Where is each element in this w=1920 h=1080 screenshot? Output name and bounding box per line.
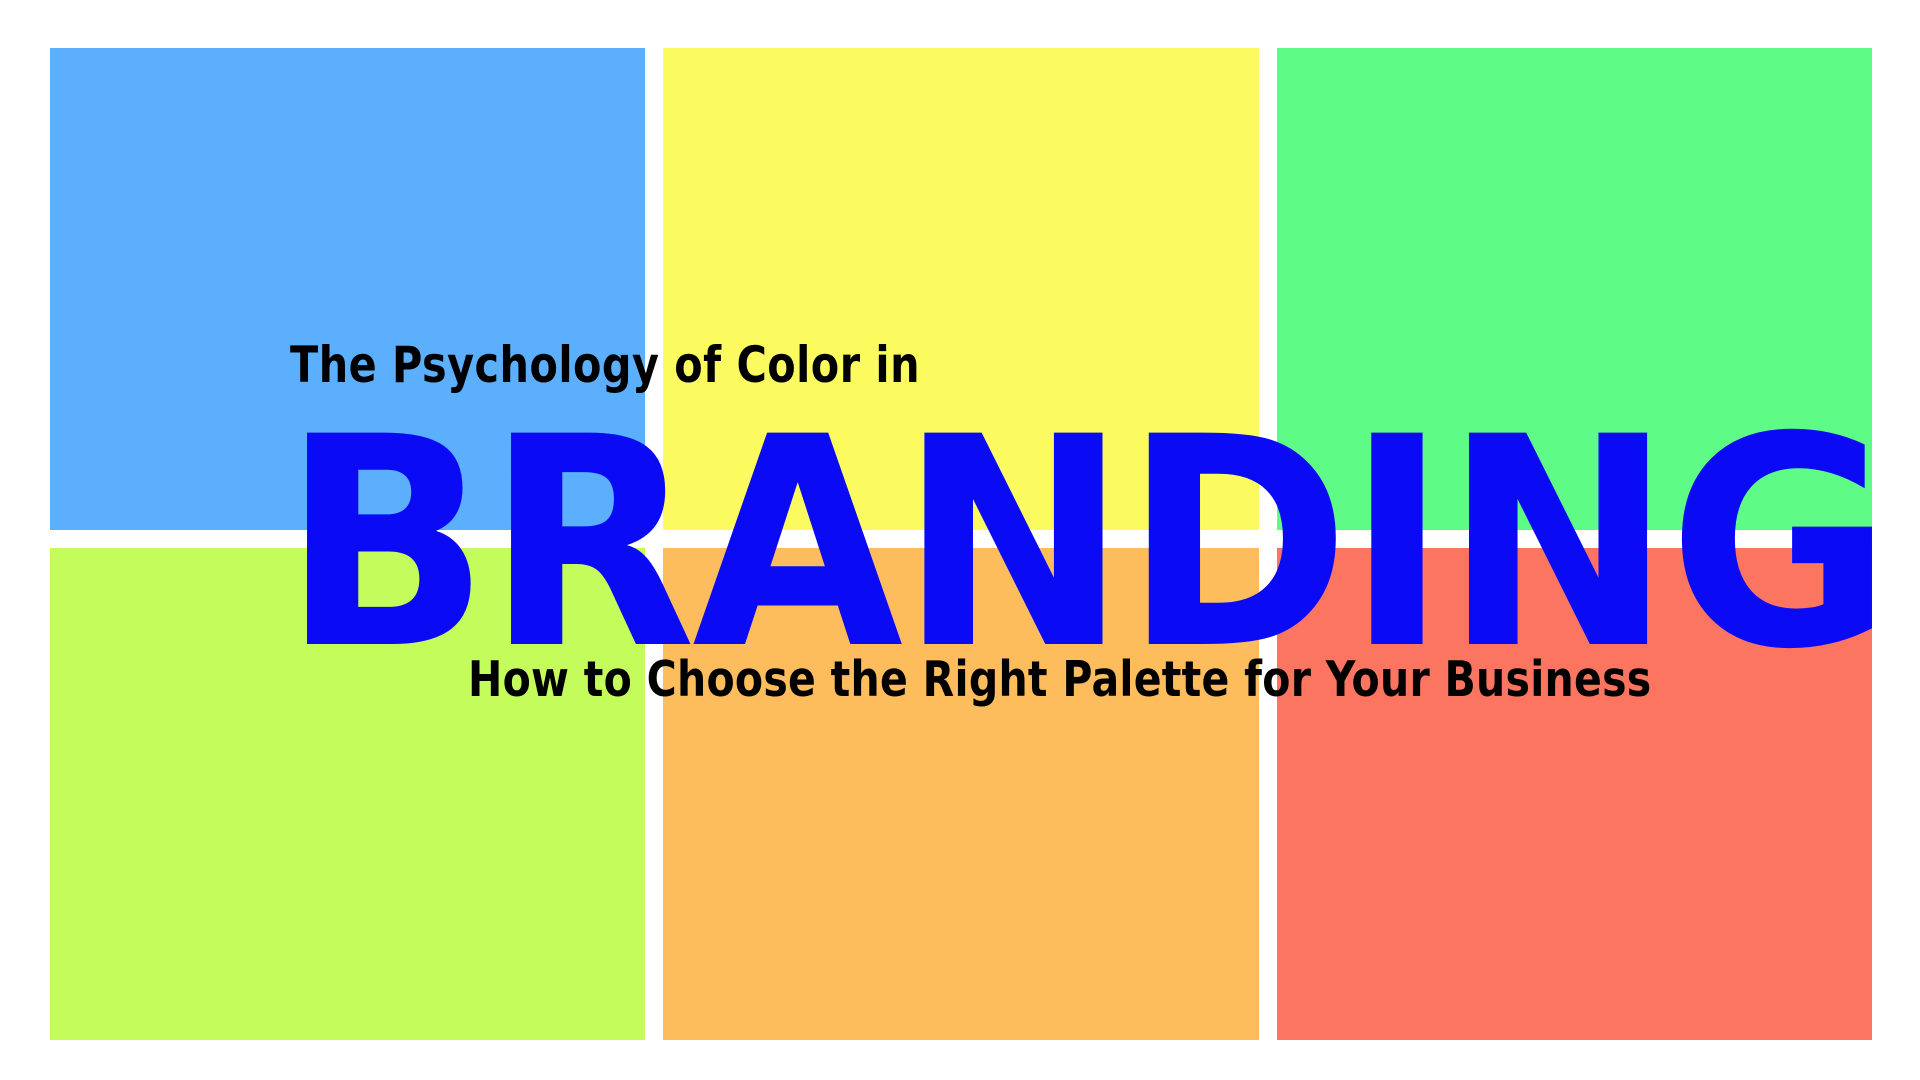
color-swatch-orange[interactable] [663,548,1258,1040]
color-palette-grid [50,48,1872,1040]
color-swatch-lime[interactable] [50,548,645,1040]
poster-canvas: The Psychology of Color in BRANDING How … [0,0,1920,1080]
color-swatch-yellow[interactable] [663,48,1258,530]
color-swatch-coral-red[interactable] [1277,548,1872,1040]
color-swatch-mint-green[interactable] [1277,48,1872,530]
color-swatch-sky-blue[interactable] [50,48,645,530]
